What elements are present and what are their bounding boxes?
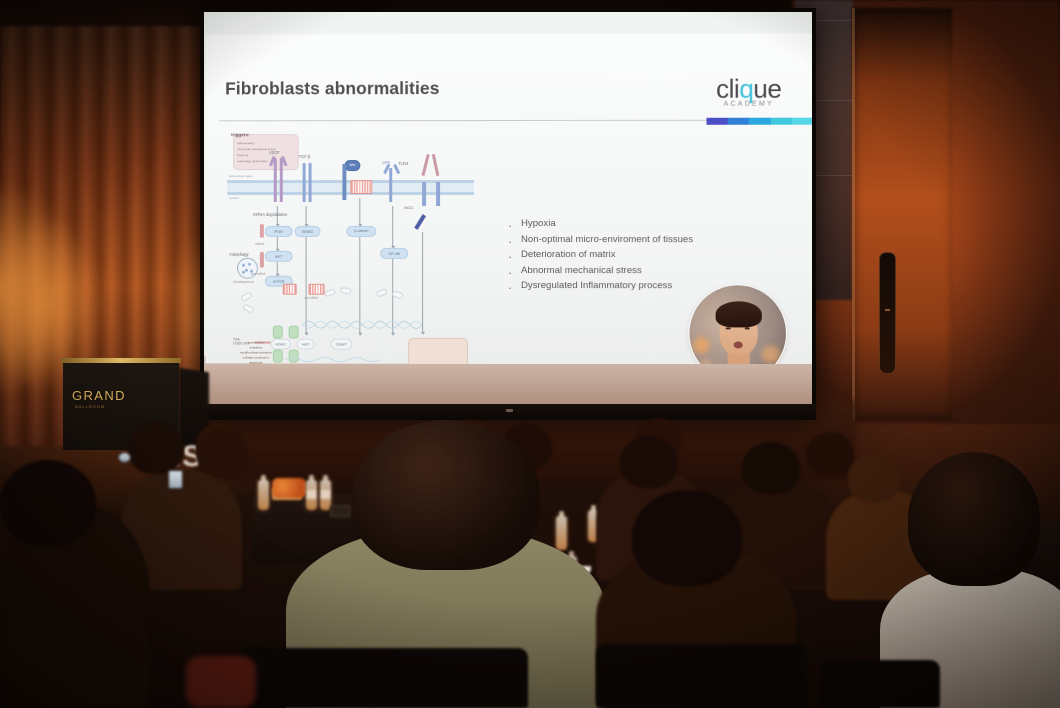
audience-head bbox=[806, 432, 854, 476]
audience-head-foreground bbox=[352, 420, 540, 570]
node-nfkb: NF-κB bbox=[380, 248, 408, 259]
vesicle bbox=[340, 287, 352, 295]
vegf-receptor-stalk bbox=[274, 158, 277, 202]
notch-receptor bbox=[422, 154, 430, 176]
node-pi3k: PI3K bbox=[265, 226, 293, 237]
logo-color-bar bbox=[707, 118, 812, 125]
logo-text-cli: cli bbox=[716, 74, 739, 104]
tgfb-receptor-stalk bbox=[303, 163, 306, 202]
projection-screen-surface: Fibroblasts abnormalities clique ACADEMY… bbox=[204, 12, 812, 412]
podium-venue-name: GRAND bbox=[72, 388, 126, 403]
triggers-title: triggers: bbox=[231, 132, 250, 137]
signal-arrow bbox=[277, 262, 278, 274]
receptor-label-tlr4: TLR4 bbox=[398, 161, 408, 166]
logo-bar-seg bbox=[707, 118, 728, 125]
water-bottle bbox=[556, 516, 567, 550]
lrp-coreceptor bbox=[342, 164, 346, 200]
triggers-item: autophagy dysfunction bbox=[237, 159, 268, 163]
node-bcatenin: β-catenin bbox=[346, 226, 376, 237]
label-autophagosome: Autophagosome bbox=[233, 280, 254, 284]
tlr4-receptor-stalk bbox=[389, 168, 392, 202]
chair-back bbox=[238, 648, 528, 708]
flower-arrangement bbox=[272, 478, 306, 498]
vesicle bbox=[392, 290, 404, 299]
chair-back bbox=[596, 644, 806, 708]
audience-head bbox=[632, 490, 742, 586]
receptor-label-tgfb: TGF-β bbox=[299, 154, 311, 159]
presenter-eye bbox=[745, 327, 750, 329]
nicd-fragment bbox=[414, 214, 426, 230]
signaling-pathway-diagram: triggers: Inflammation Abnormal mechanic… bbox=[227, 130, 474, 382]
membrane-label-cytosol: Cytosol bbox=[229, 196, 238, 200]
tgfb-receptor-stalk bbox=[309, 163, 312, 202]
audience-head bbox=[908, 452, 1040, 586]
screen-indicator-led bbox=[506, 409, 513, 412]
premirna-strand bbox=[260, 252, 264, 268]
audience-head bbox=[742, 442, 800, 494]
triggers-item: Hypoxia bbox=[237, 153, 248, 157]
label-mrna-degradation: mRNA degradation bbox=[253, 212, 287, 217]
dna-double-helix bbox=[303, 318, 422, 332]
bag-on-floor bbox=[186, 656, 256, 708]
audience-head bbox=[848, 454, 900, 502]
list-item: Deterioration of matrix bbox=[504, 247, 755, 263]
wnt-ligand: Wnt bbox=[344, 160, 360, 171]
logo-text-ue: ue bbox=[753, 74, 781, 104]
audience-head bbox=[620, 436, 678, 488]
vesicle bbox=[324, 288, 336, 297]
pillar-edge-highlight bbox=[852, 8, 855, 420]
phone-screen bbox=[168, 470, 183, 489]
node-hat: HAT bbox=[297, 339, 315, 350]
signal-arrow bbox=[422, 232, 423, 332]
podium-venue-sub: BALLROOM bbox=[75, 404, 105, 409]
logo-text-q: q bbox=[739, 74, 753, 104]
wall-speaker bbox=[879, 252, 896, 374]
signal-arrow bbox=[277, 237, 278, 249]
water-bottle bbox=[306, 480, 317, 510]
list-item: Abnormal mechanical stress bbox=[504, 263, 755, 279]
list-item: Hypoxia bbox=[504, 216, 755, 232]
dna-strand-lower bbox=[285, 356, 381, 364]
node-dnmt: DNMT bbox=[330, 339, 352, 350]
label-nicd: NICD bbox=[404, 206, 413, 210]
label-pri-mirna: pri-miRNA bbox=[305, 296, 318, 300]
audience-head bbox=[196, 428, 248, 476]
conference-photo: Fibroblasts abnormalities clique ACADEMY… bbox=[0, 0, 1060, 708]
water-bottle bbox=[258, 480, 269, 510]
label-mirna: miRNA bbox=[255, 242, 264, 246]
list-item: Non-optimal micro-enviroment of tissues bbox=[504, 232, 755, 248]
vesicle bbox=[240, 291, 252, 302]
slide-bullet-list: Hypoxia Non-optimal micro-enviroment of … bbox=[504, 216, 755, 294]
vesicle bbox=[242, 303, 254, 313]
pre-mirna-hairpin bbox=[283, 284, 297, 295]
pri-mirna-hairpin bbox=[309, 284, 325, 295]
signal-arrow bbox=[359, 198, 360, 224]
bokeh-light bbox=[693, 337, 709, 353]
signal-arrow bbox=[306, 206, 307, 224]
logo-wordmark: clique bbox=[700, 76, 797, 102]
table-placard bbox=[330, 505, 350, 517]
vesicle bbox=[376, 288, 388, 298]
audience-head bbox=[128, 422, 184, 474]
node-akt: AKT bbox=[265, 251, 293, 262]
logo-bar-seg bbox=[771, 118, 792, 125]
notch-receptor bbox=[432, 154, 439, 176]
wall-pillar bbox=[852, 8, 952, 420]
presenter-mouth bbox=[734, 341, 743, 348]
logo-bar-seg bbox=[792, 118, 812, 125]
chair-back bbox=[820, 660, 940, 708]
vegf-receptor-stalk bbox=[280, 158, 283, 202]
presenter-eye bbox=[726, 327, 731, 329]
bokeh-light bbox=[762, 346, 780, 364]
presenter-hair bbox=[716, 301, 762, 327]
membrane-label-ecm: Extracellular matrix bbox=[229, 174, 253, 178]
receptor-label-vegf: VEGF bbox=[269, 150, 280, 155]
frizzled-receptor bbox=[350, 180, 372, 194]
logo-bar-seg bbox=[749, 118, 770, 125]
logo-bar-seg bbox=[728, 118, 749, 125]
logo-subtitle: ACADEMY bbox=[700, 101, 797, 108]
triggers-box bbox=[233, 134, 299, 170]
signal-arrow bbox=[392, 206, 393, 246]
mirna-strand bbox=[260, 224, 264, 238]
podium-top-trim bbox=[61, 358, 181, 363]
audience-head bbox=[0, 460, 96, 546]
clique-academy-logo: clique ACADEMY bbox=[700, 76, 797, 108]
label-autophagy: Autophagy bbox=[229, 252, 248, 257]
screen-bottom-bezel bbox=[200, 404, 816, 420]
nucleosome bbox=[289, 326, 299, 339]
triggers-item: Inflammation bbox=[237, 141, 255, 145]
label-pre-mirna: pre-miRNA bbox=[251, 272, 265, 276]
notch-transmembrane bbox=[422, 182, 426, 206]
nucleosome bbox=[273, 326, 283, 339]
slide-title: Fibroblasts abnormalities bbox=[225, 78, 439, 99]
notch-transmembrane bbox=[436, 182, 440, 206]
phone-screen bbox=[118, 452, 131, 463]
node-smad: SMAD bbox=[295, 226, 321, 237]
presentation-slide: Fibroblasts abnormalities clique ACADEMY… bbox=[205, 33, 812, 364]
